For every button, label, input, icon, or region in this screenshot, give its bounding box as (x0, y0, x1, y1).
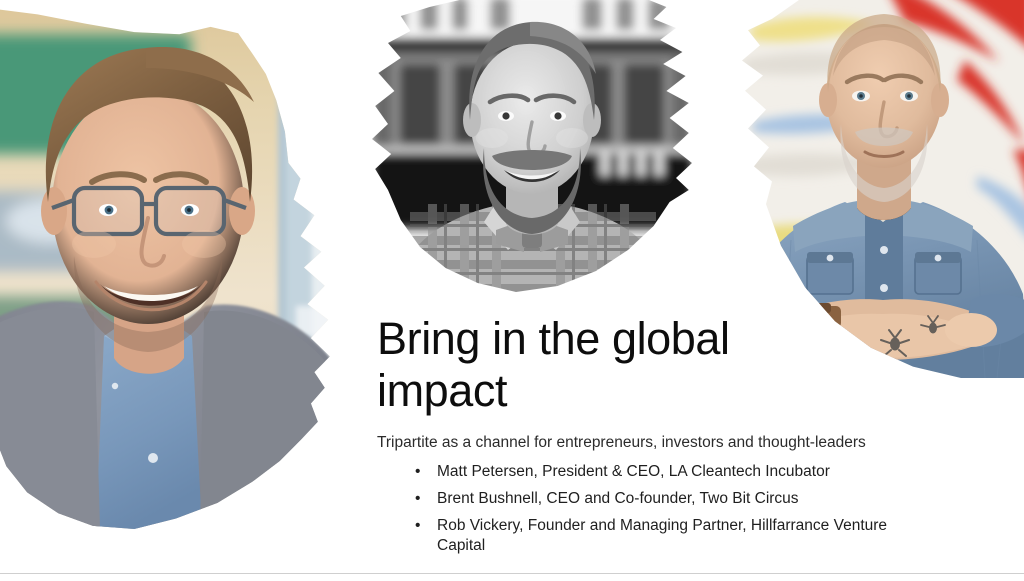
list-item-label: Rob Vickery, Founder and Managing Partne… (437, 517, 887, 554)
page-title: Bring in the global impact (377, 313, 797, 417)
slide-text-block: Bring in the global impact Tripartite as… (377, 313, 937, 563)
list-item: •Brent Bushnell, CEO and Co-founder, Two… (377, 489, 937, 509)
photo-brent-bushnell (372, 0, 692, 298)
list-item-label: Brent Bushnell, CEO and Co-founder, Two … (437, 490, 799, 507)
bullet-dot-icon: • (415, 516, 420, 536)
photo-left-artwork (0, 6, 342, 529)
photo-matt-petersen (0, 6, 342, 529)
slide-subtitle: Tripartite as a channel for entrepreneur… (377, 433, 937, 453)
list-item-label: Matt Petersen, President & CEO, LA Clean… (437, 463, 830, 480)
bullet-dot-icon: • (415, 489, 420, 509)
presentation-slide: Bring in the global impact Tripartite as… (0, 0, 1024, 581)
photo-center-artwork (372, 0, 692, 298)
list-item: •Matt Petersen, President & CEO, LA Clea… (377, 462, 937, 482)
footer-divider (0, 573, 1024, 574)
bullet-dot-icon: • (415, 462, 420, 482)
speaker-bullet-list: •Matt Petersen, President & CEO, LA Clea… (377, 462, 937, 556)
list-item: •Rob Vickery, Founder and Managing Partn… (377, 516, 937, 556)
